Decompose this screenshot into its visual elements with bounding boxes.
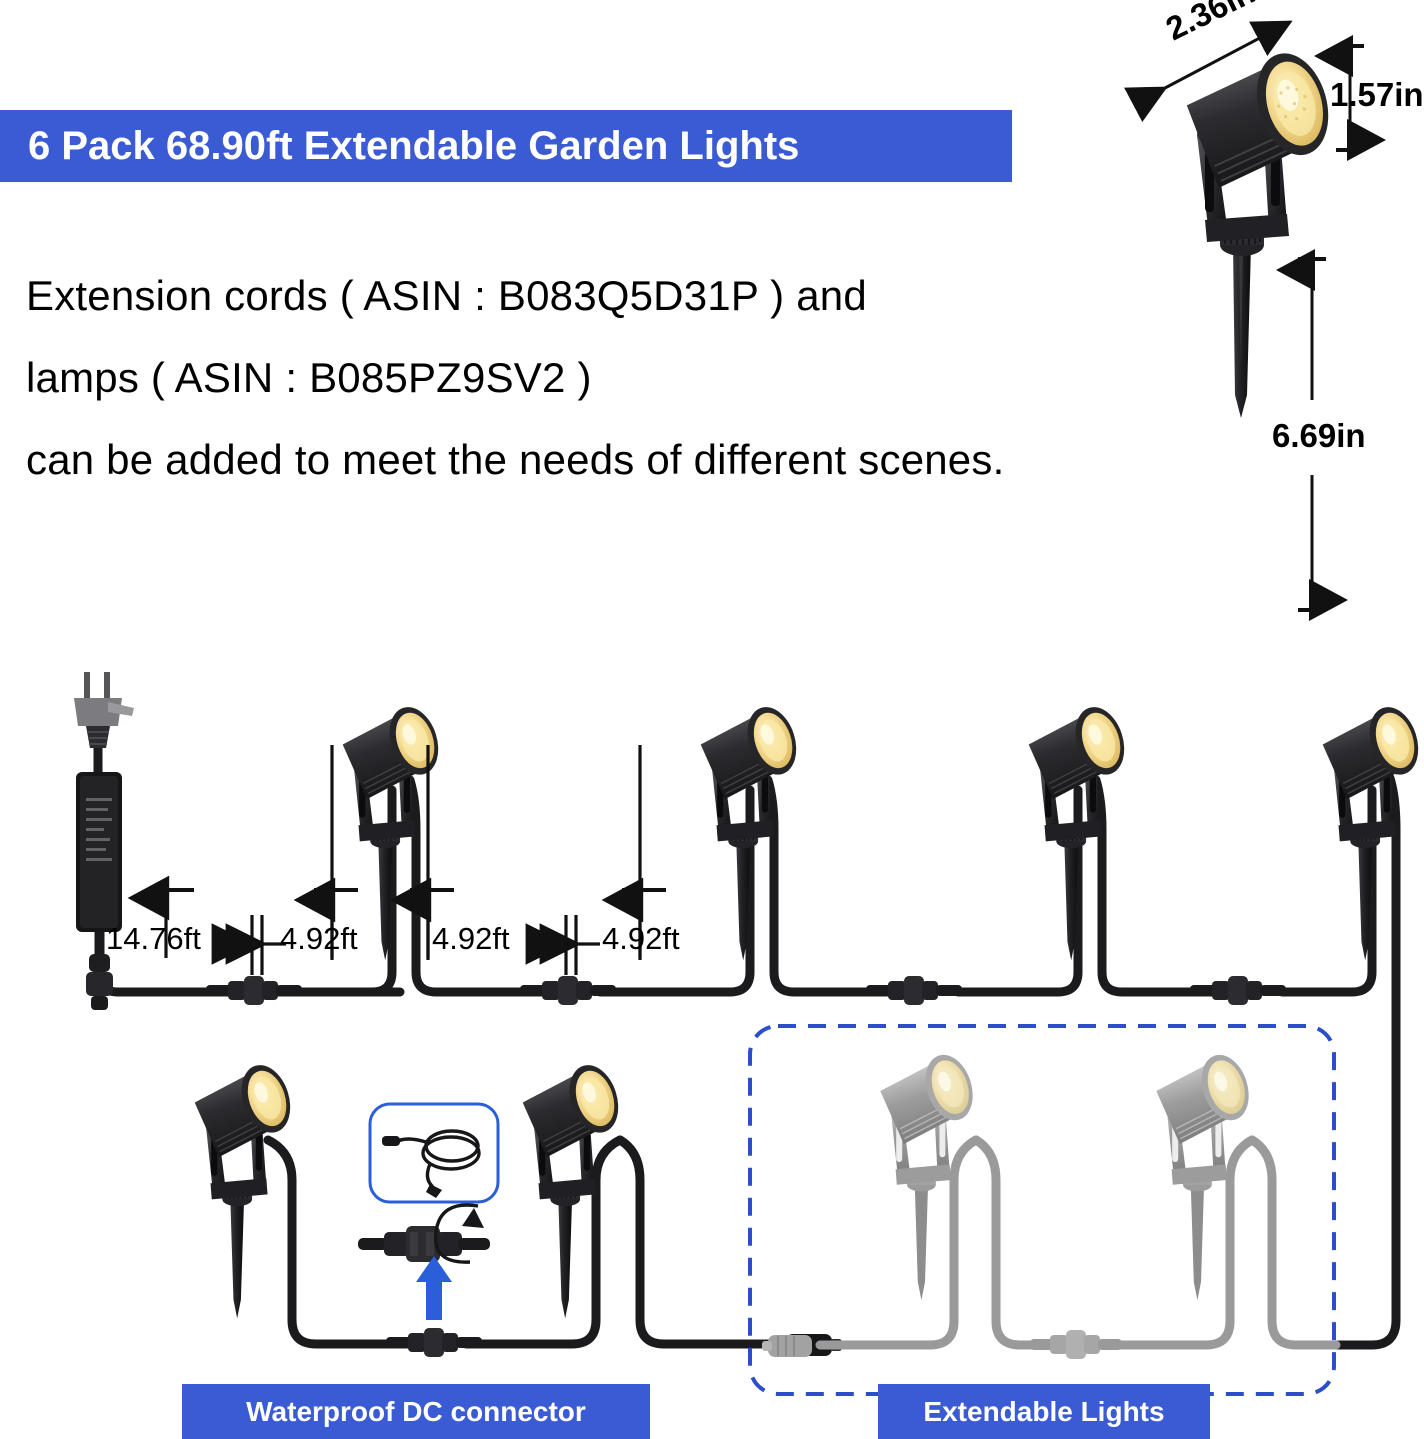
lamp-extendable-1: [875, 1049, 982, 1300]
lamp-bottom-2: [518, 1059, 629, 1319]
waterproof-connector-banner: Waterproof DC connector: [182, 1384, 650, 1439]
extendable-lights-banner: Extendable Lights: [878, 1384, 1210, 1439]
waterproof-connector-top-3: [866, 976, 962, 1005]
wiring-diagram: [0, 0, 1424, 1439]
lamp-bottom-1: [190, 1059, 301, 1319]
waterproof-connector-extendable: [1030, 1330, 1122, 1359]
lamp-extendable-2: [1151, 1049, 1258, 1300]
length-label-segment-1: 4.92ft: [280, 921, 358, 957]
extendable-lights-label: Extendable Lights: [923, 1398, 1164, 1426]
waterproof-connector-top-4: [1190, 976, 1286, 1005]
waterproof-connector-label: Waterproof DC connector: [246, 1398, 586, 1426]
power-adapter: [74, 672, 134, 1010]
cable-run-bottom: [268, 1140, 790, 1344]
waterproof-connector-top-1: [206, 976, 302, 1005]
waterproof-connector-detail: [358, 1226, 490, 1262]
dc-socket-female: [762, 1335, 812, 1357]
waterproof-connector-bottom: [386, 1328, 482, 1357]
insert-direction-arrow: [416, 1256, 452, 1320]
length-label-segment-3: 4.92ft: [602, 921, 680, 957]
length-label-lead-cord: 14.76ft: [106, 921, 201, 957]
waterproof-connector-top-2: [520, 976, 616, 1005]
extension-cord-female-end: [382, 1136, 400, 1146]
length-label-segment-2: 4.92ft: [432, 921, 510, 957]
